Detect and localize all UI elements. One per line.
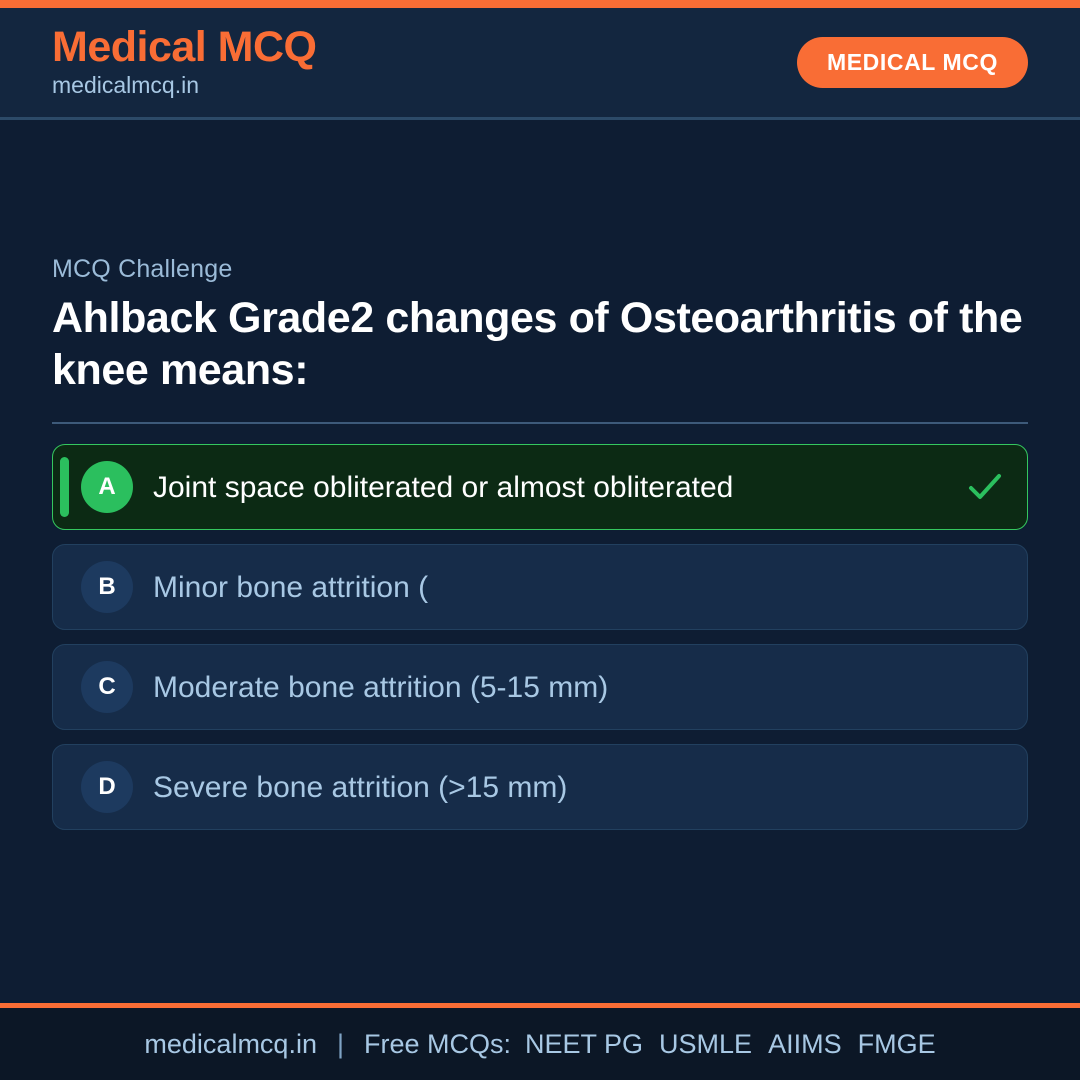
top-accent-bar (0, 0, 1080, 8)
option-d[interactable]: D Severe bone attrition (>15 mm) (52, 744, 1028, 830)
option-b[interactable]: B Minor bone attrition ( (52, 544, 1028, 630)
question-divider (52, 422, 1028, 424)
options-list: A Joint space obliterated or almost obli… (52, 444, 1028, 830)
footer-separator: | (331, 1029, 350, 1060)
option-text: Moderate bone attrition (5-15 mm) (153, 669, 965, 707)
header: Medical MCQ medicalmcq.in MEDICAL MCQ (0, 8, 1080, 120)
option-letter: B (81, 561, 133, 613)
footer-exam-item: AIIMS (768, 1029, 842, 1060)
header-badge: MEDICAL MCQ (797, 37, 1028, 88)
option-letter: C (81, 661, 133, 713)
check-icon (965, 472, 1005, 502)
option-letter: A (81, 461, 133, 513)
footer: medicalmcq.in | Free MCQs: NEET PG USMLE… (0, 1003, 1080, 1080)
correct-accent-bar (60, 457, 69, 517)
footer-exam-item: FMGE (858, 1029, 936, 1060)
question-text: Ahlback Grade2 changes of Osteoarthritis… (52, 292, 1028, 397)
footer-exam-item: NEET PG (525, 1029, 643, 1060)
footer-exam-item: USMLE (659, 1029, 752, 1060)
brand-subtitle: medicalmcq.in (52, 71, 317, 100)
brand: Medical MCQ medicalmcq.in (52, 25, 317, 100)
eyebrow-label: MCQ Challenge (52, 255, 1028, 284)
brand-title: Medical MCQ (52, 25, 317, 70)
footer-site: medicalmcq.in (144, 1029, 317, 1060)
main-content: MCQ Challenge Ahlback Grade2 changes of … (0, 120, 1080, 1003)
footer-exams: NEET PG USMLE AIIMS FMGE (525, 1029, 936, 1060)
option-text: Severe bone attrition (>15 mm) (153, 769, 965, 807)
option-text: Joint space obliterated or almost oblite… (153, 469, 965, 507)
option-text: Minor bone attrition ( (153, 569, 965, 607)
footer-label: Free MCQs: (364, 1029, 511, 1060)
mcq-card: Medical MCQ medicalmcq.in MEDICAL MCQ MC… (0, 0, 1080, 1080)
option-a[interactable]: A Joint space obliterated or almost obli… (52, 444, 1028, 530)
option-c[interactable]: C Moderate bone attrition (5-15 mm) (52, 644, 1028, 730)
option-letter: D (81, 761, 133, 813)
